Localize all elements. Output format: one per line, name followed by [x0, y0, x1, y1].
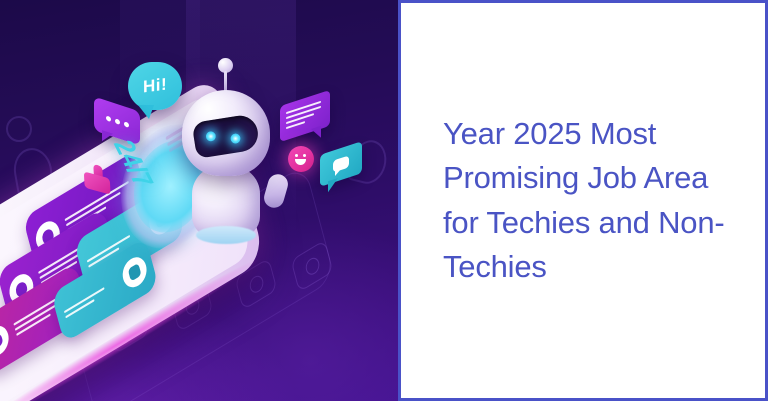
robot-collar-glow: [196, 226, 256, 244]
typing-dot: [106, 115, 111, 122]
avatar: [0, 321, 12, 361]
robot-eye-right: [230, 133, 241, 144]
chat-icon: [333, 155, 349, 172]
message-lines: [63, 277, 118, 321]
greeting-speech-bubble: Hi!: [128, 62, 182, 110]
chatbot-illustration: Hi! 24/7: [0, 0, 398, 401]
greeting-text: Hi!: [143, 75, 167, 98]
message-text-bubble: [280, 90, 330, 142]
robot-mascot: [174, 58, 278, 248]
smiley-face-icon: [288, 146, 314, 172]
promo-banner: Hi! 24/7 Year 2025 Most Promising Job Ar…: [0, 0, 768, 401]
decorative-circle-outline: [6, 116, 32, 142]
robot-eye-left: [205, 131, 216, 142]
page-title: Year 2025 Most Promising Job Area for Te…: [401, 112, 765, 288]
headline-panel: Year 2025 Most Promising Job Area for Te…: [398, 0, 768, 401]
robot-head: [182, 90, 270, 176]
typing-dot: [115, 118, 120, 125]
robot-visor: [192, 113, 261, 159]
typing-dot: [124, 121, 129, 128]
bot-badge-icon: [120, 252, 150, 292]
